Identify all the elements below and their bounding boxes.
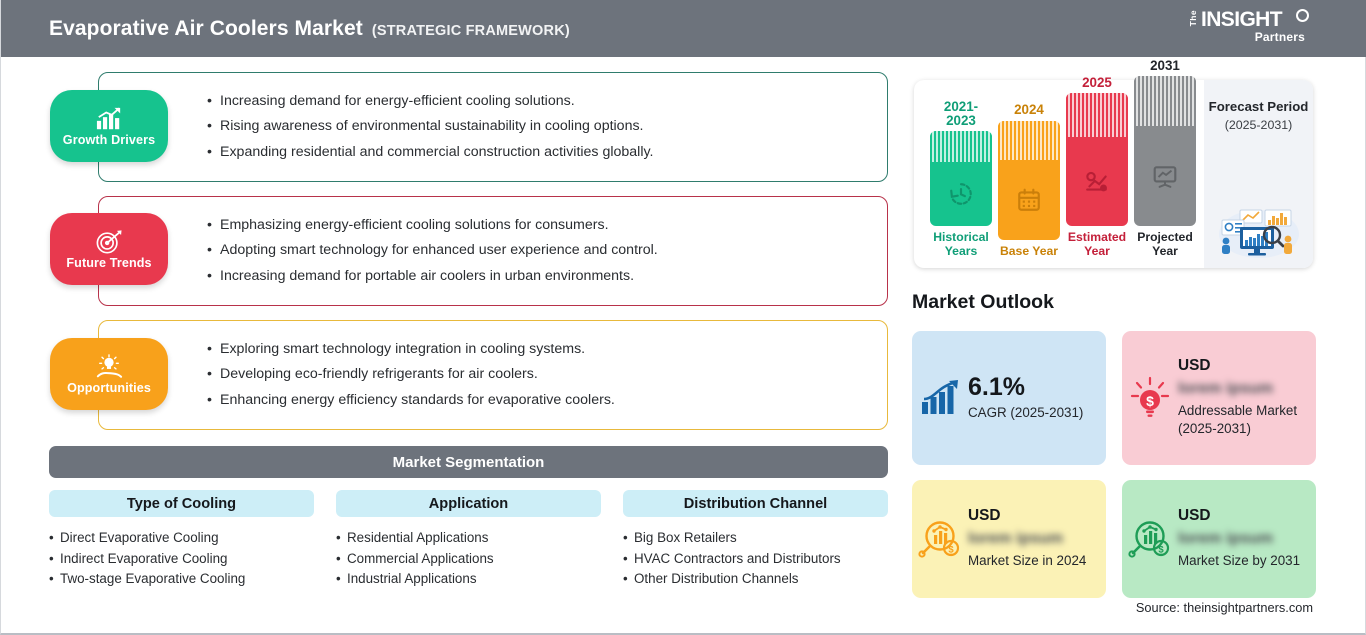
segmentation-column-header: Type of Cooling	[49, 490, 314, 517]
logo-partners-text: Partners	[1189, 30, 1309, 44]
market-size-2024-label: Market Size in 2024	[968, 552, 1086, 570]
currency-label: USD	[968, 508, 1086, 525]
insight-partners-logo: The INSIGHT Partners	[1189, 8, 1309, 50]
outlook-card-icon-wrap: $	[912, 517, 968, 561]
bar-chart-arrow-icon	[919, 378, 961, 418]
target-dart-icon	[94, 229, 124, 255]
list-item: Industrial Applications	[336, 569, 601, 590]
logo-circle-icon	[1296, 9, 1309, 22]
outlook-card-body: 6.1% CAGR (2025-2031)	[968, 374, 1091, 423]
chart-gear-icon	[1084, 169, 1110, 195]
bar-year-label: 2024	[998, 103, 1060, 117]
segmentation-column-title: Application	[429, 496, 508, 512]
addressable-market-label: Addressable Market (2025-2031)	[1178, 402, 1308, 438]
logo-insight-text: INSIGHT	[1201, 8, 1282, 31]
badge-growth-drivers[interactable]: Growth Drivers	[50, 90, 168, 162]
bar-stripe-top	[998, 121, 1060, 160]
panel-future-trends: Emphasizing energy-efficient cooling sol…	[98, 196, 888, 306]
source-note: Source: theinsightpartners.com	[1136, 600, 1313, 615]
history-clock-icon	[948, 181, 974, 207]
outlook-card-addressable-market: $ USD lorem ipsum Addressable Market (20…	[1122, 331, 1316, 465]
list-item: Other Distribution Channels	[623, 569, 888, 590]
bar-body	[1134, 126, 1196, 226]
badge-label: Future Trends	[66, 256, 151, 270]
segmentation-column-type-of-cooling: Type of Cooling Direct Evaporative Cooli…	[49, 490, 314, 590]
segmentation-column-application: Application Residential Applications Com…	[336, 490, 601, 590]
bar-year-label: 2031	[1134, 59, 1196, 73]
magnifier-chart-dollar-icon: $	[1128, 517, 1172, 561]
forecast-bar-group: 2021-2023 Historical Years	[930, 100, 992, 258]
outlook-card-icon-wrap	[912, 378, 968, 418]
bar-caption: Historical Years	[930, 231, 992, 258]
bar-caption: Estimated Year	[1066, 231, 1128, 258]
segmentation-list: Residential Applications Commercial Appl…	[336, 528, 601, 590]
bullet-item: Increasing demand for portable air coole…	[207, 269, 658, 285]
bar-caption: Projected Year	[1134, 231, 1196, 258]
bar-stripe-top	[1134, 76, 1196, 126]
badge-label: Opportunities	[67, 381, 151, 395]
panel-growth-drivers: Increasing demand for energy-efficient c…	[98, 72, 888, 182]
market-outlook-title: Market Outlook	[912, 291, 1054, 314]
page-title: Evaporative Air Coolers Market	[49, 17, 363, 41]
segmentation-column-distribution-channel: Distribution Channel Big Box Retailers H…	[623, 490, 888, 590]
bullet-item: Adopting smart technology for enhanced u…	[207, 243, 658, 259]
lightbulb-dollar-icon: $	[1129, 376, 1171, 420]
bar-estimated	[1066, 93, 1128, 226]
market-size-2031-label: Market Size by 2031	[1178, 552, 1300, 570]
analytics-team-illustration	[1210, 194, 1308, 260]
cagr-label: CAGR (2025-2031)	[968, 404, 1083, 422]
bullet-item: Increasing demand for energy-efficient c…	[207, 94, 653, 110]
presentation-screen-icon	[1152, 163, 1178, 189]
cagr-value: 6.1%	[968, 374, 1083, 402]
bar-body	[930, 162, 992, 226]
outlook-card-body: USD lorem ipsum Market Size by 2031	[1178, 508, 1308, 570]
bar-historical	[930, 131, 992, 226]
bullet-item: Rising awareness of environmental sustai…	[207, 119, 653, 135]
outlook-card-icon-wrap: $	[1122, 517, 1178, 561]
svg-text:$: $	[948, 545, 954, 556]
header-title-group: Evaporative Air Coolers Market (STRATEGI…	[49, 17, 570, 41]
bar-stripe-top	[1066, 93, 1128, 137]
currency-label: USD	[1178, 358, 1308, 375]
outlook-card-market-size-2031: $ USD lorem ipsum Market Size by 2031	[1122, 480, 1316, 598]
svg-text:$: $	[1146, 393, 1154, 409]
bar-base	[998, 121, 1060, 240]
badge-opportunities[interactable]: Opportunities	[50, 338, 168, 410]
logo-the-text: The	[1189, 10, 1198, 26]
outlook-card-cagr: 6.1% CAGR (2025-2031)	[912, 331, 1106, 465]
bullet-item: Expanding residential and commercial con…	[207, 145, 653, 161]
opportunities-bullets: Exploring smart technology integration i…	[207, 321, 615, 429]
segmentation-list: Direct Evaporative Cooling Indirect Evap…	[49, 528, 314, 590]
infographic-page: Evaporative Air Coolers Market (STRATEGI…	[0, 0, 1366, 635]
page-header: Evaporative Air Coolers Market (STRATEGI…	[1, 0, 1366, 57]
segmentation-column-title: Distribution Channel	[684, 496, 828, 512]
future-trends-bullets: Emphasizing energy-efficient cooling sol…	[207, 197, 658, 305]
market-segmentation-header: Market Segmentation	[49, 446, 888, 478]
list-item: HVAC Contractors and Distributors	[623, 549, 888, 570]
bullet-item: Enhancing energy efficiency standards fo…	[207, 393, 615, 409]
currency-label: USD	[1178, 508, 1300, 525]
segmentation-column-header: Distribution Channel	[623, 490, 888, 517]
list-item: Two-stage Evaporative Cooling	[49, 569, 314, 590]
list-item: Indirect Evaporative Cooling	[49, 549, 314, 570]
page-subtitle: (STRATEGIC FRAMEWORK)	[372, 23, 570, 39]
svg-text:$: $	[1158, 545, 1164, 556]
bar-caption: Base Year	[998, 245, 1060, 259]
outlook-card-body: USD lorem ipsum Market Size in 2024	[968, 508, 1094, 570]
outlook-card-market-size-2024: $ USD lorem ipsum Market Size in 2024	[912, 480, 1106, 598]
blurred-market-value: lorem ipsum	[968, 531, 1086, 548]
forecast-bar-group: 2031 Projected Year	[1134, 59, 1196, 258]
lightbulb-hand-icon	[94, 354, 124, 380]
bar-chart-growth-icon	[94, 106, 124, 132]
logo-top-row: The INSIGHT	[1189, 8, 1309, 31]
list-item: Residential Applications	[336, 528, 601, 549]
segmentation-column-title: Type of Cooling	[127, 496, 236, 512]
bar-body	[1066, 137, 1128, 226]
forecast-bar-chart: 2021-2023 Historical Years 2024	[914, 80, 1204, 268]
forecast-period-range: (2025-2031)	[1204, 118, 1313, 132]
bullet-item: Developing eco-friendly refrigerants for…	[207, 367, 615, 383]
blurred-market-value: lorem ipsum	[1178, 531, 1300, 548]
forecast-period-card: 2021-2023 Historical Years 2024	[914, 80, 1313, 268]
segmentation-column-header: Application	[336, 490, 601, 517]
forecast-bar-group: 2024	[998, 103, 1060, 258]
list-item: Commercial Applications	[336, 549, 601, 570]
outlook-card-body: USD lorem ipsum Addressable Market (2025…	[1178, 358, 1316, 438]
bar-stripe-top	[930, 131, 992, 162]
bullet-item: Emphasizing energy-efficient cooling sol…	[207, 218, 658, 234]
badge-future-trends[interactable]: Future Trends	[50, 213, 168, 285]
bar-year-label: 2021-2023	[930, 100, 992, 128]
bullet-item: Exploring smart technology integration i…	[207, 342, 615, 358]
bar-body	[998, 160, 1060, 240]
badge-label: Growth Drivers	[63, 133, 155, 147]
list-item: Big Box Retailers	[623, 528, 888, 549]
bar-projected	[1134, 76, 1196, 226]
magnifier-chart-dollar-icon: $	[918, 517, 962, 561]
segmentation-list: Big Box Retailers HVAC Contractors and D…	[623, 528, 888, 590]
calendar-icon	[1016, 187, 1042, 213]
panel-opportunities: Exploring smart technology integration i…	[98, 320, 888, 430]
segmentation-title: Market Segmentation	[393, 454, 545, 471]
growth-drivers-bullets: Increasing demand for energy-efficient c…	[207, 73, 653, 181]
forecast-period-side-panel: Forecast Period (2025-2031)	[1204, 80, 1313, 268]
outlook-card-icon-wrap: $	[1122, 376, 1178, 420]
forecast-period-title: Forecast Period	[1204, 98, 1313, 115]
forecast-bar-group: 2025 Estimated Year	[1066, 76, 1128, 258]
bar-year-label: 2025	[1066, 76, 1128, 90]
list-item: Direct Evaporative Cooling	[49, 528, 314, 549]
blurred-market-value: lorem ipsum	[1178, 381, 1308, 398]
